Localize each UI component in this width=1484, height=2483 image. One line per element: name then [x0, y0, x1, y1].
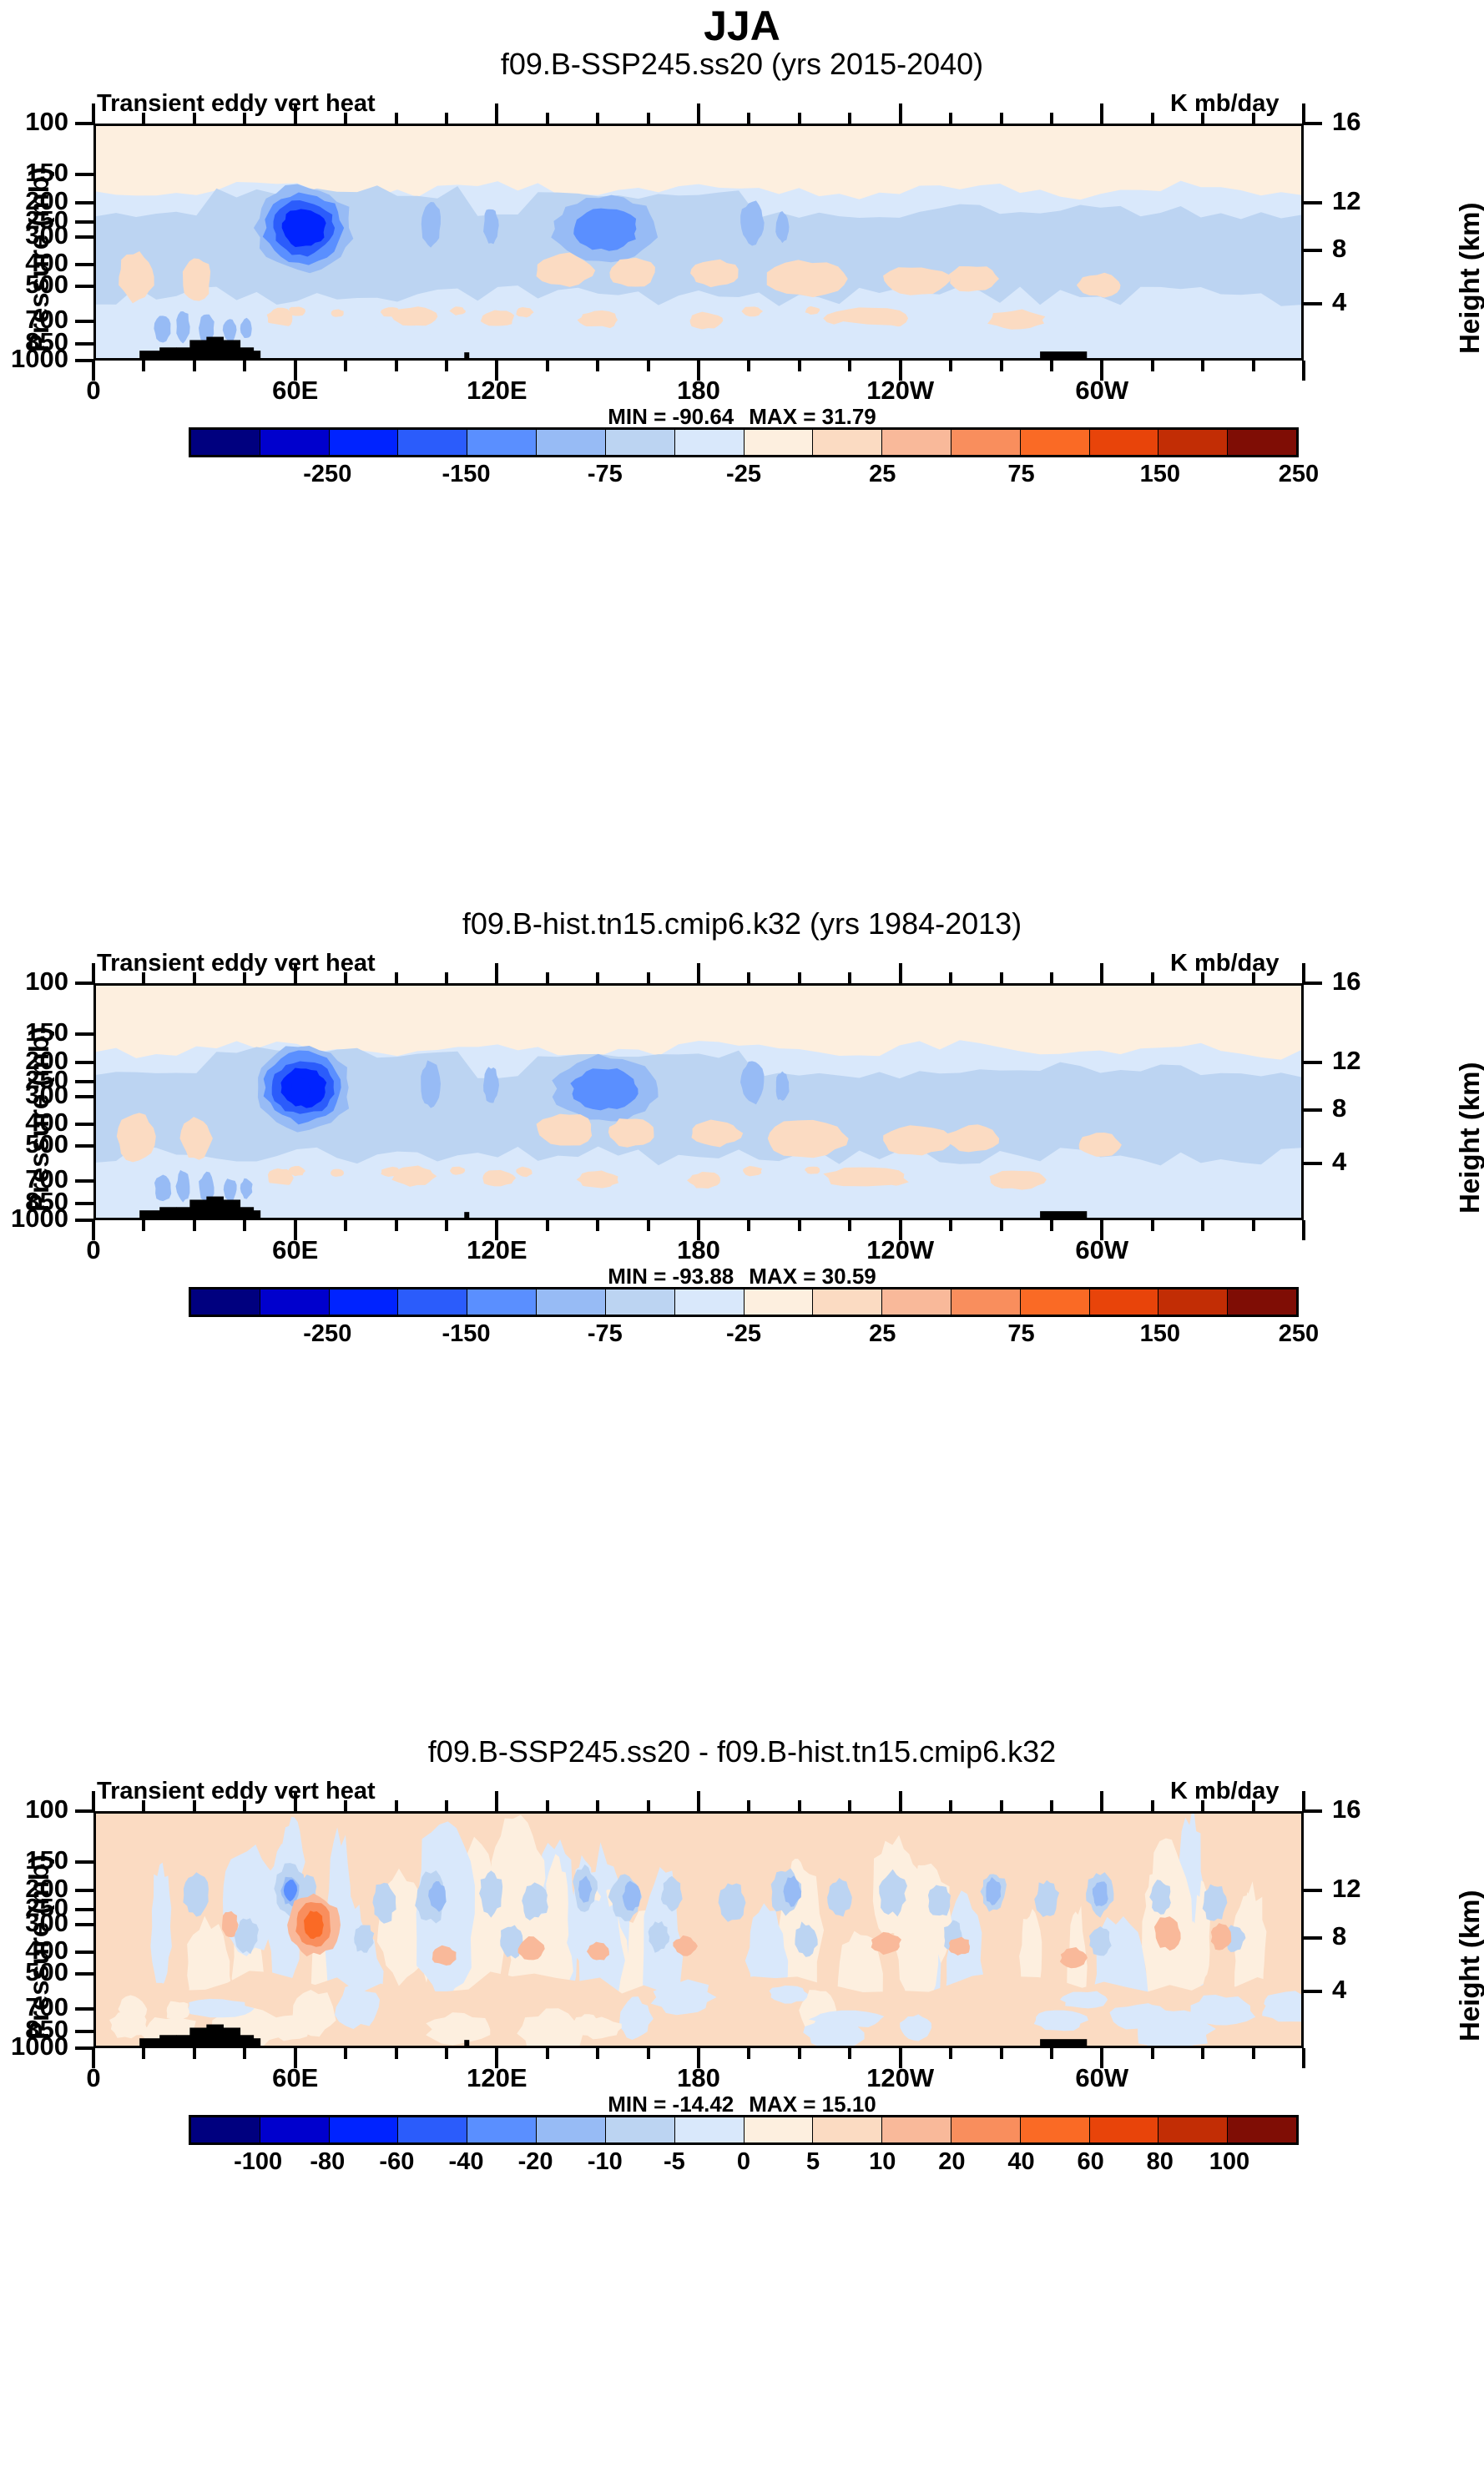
panel-ssp245-ytick-right-12	[1304, 201, 1322, 204]
panel-ssp245-xtick-bottom	[1000, 361, 1003, 371]
panel-ssp245-xtick-top	[747, 113, 750, 124]
panel-diff-xtick-bottom	[243, 2048, 246, 2059]
panel-diff-colorbar-cell-9	[813, 2117, 882, 2142]
panel-ssp245-max: MAX = 31.79	[749, 404, 876, 429]
panel-diff-xtick-bottom	[747, 2048, 750, 2059]
panel-ssp245-ytick-100	[75, 122, 93, 125]
panel-ssp245-xtick-label-0: 0	[35, 376, 152, 406]
panel-hist-min: MIN = -93.88	[608, 1264, 734, 1289]
panel-hist-colorbar-cell-6	[606, 1289, 675, 1315]
panel-ssp245-ylabel-right: Height (km)	[1454, 203, 1484, 355]
panel-hist-colorbar-label-0: -250	[303, 1320, 351, 1348]
panel-diff-xtick-bottom	[395, 2048, 398, 2059]
panel-hist-ytick-label-150: 150	[0, 1017, 68, 1047]
panel-ssp245-ytick-right-8	[1304, 249, 1322, 252]
panel-diff-colorbar-label-9: 10	[869, 2148, 896, 2176]
panel-ssp245-ytick-1000	[75, 359, 93, 362]
panel-diff-ytick-right-12	[1304, 1889, 1322, 1892]
panel-ssp245-xtick-top	[445, 113, 448, 124]
panel-hist-colorbar-cell-8	[745, 1289, 814, 1315]
panel-ssp245-colorbar-label-0: -250	[303, 461, 351, 488]
panel-diff-ytick-400	[75, 1951, 93, 1954]
panel-ssp245-xtick-bottom	[798, 361, 801, 371]
panel-ssp245-xtick-top	[697, 103, 700, 124]
panel-hist-ytick-150	[75, 1032, 93, 1036]
panel-ssp245-contour-field	[96, 126, 1301, 358]
panel-hist-xtick-bottom	[949, 1220, 952, 1231]
panel-diff-minmax: MIN = -14.42MAX = 15.10	[0, 2092, 1484, 2117]
panel-ssp245-ytick-right-16	[1304, 122, 1322, 125]
panel-diff-colorbar-cell-0	[191, 2117, 260, 2142]
panel-diff-xtick-bottom	[1302, 2048, 1305, 2068]
panel-hist-ytick-1000	[75, 1219, 93, 1222]
panel-hist-title: f09.B-hist.tn15.cmip6.k32 (yrs 1984-2013…	[0, 906, 1484, 941]
panel-ssp245-xtick-bottom	[1151, 361, 1154, 371]
panel-diff-ytick-right-8	[1304, 1936, 1322, 1940]
panel-ssp245-xtick-top	[92, 103, 95, 124]
panel-hist-ytick-label-300: 300	[0, 1080, 68, 1110]
panel-ssp245-colorbar-cell-15	[1228, 430, 1296, 455]
panel-ssp245-xtick-top	[1050, 113, 1053, 124]
panel-hist-ytick-right-8	[1304, 1108, 1322, 1112]
panel-ssp245-xtick-top	[899, 103, 902, 124]
panel-hist-xtick-top	[193, 972, 196, 983]
panel-hist-xtick-bottom	[596, 1220, 599, 1231]
panel-hist-ytick-850	[75, 1202, 93, 1205]
panel-ssp245-colorbar-cell-10	[882, 430, 951, 455]
panel-hist-xtick-top	[142, 972, 145, 983]
panel-hist-xtick-bottom	[1302, 1220, 1305, 1240]
panel-ssp245-ytick-right-label-12: 12	[1332, 186, 1391, 216]
panel-diff-xtick-top	[1252, 1800, 1255, 1811]
panel-ssp245-xtick-top	[1201, 113, 1204, 124]
panel-hist-colorbar-cell-13	[1090, 1289, 1159, 1315]
panel-diff-xtick-top	[1151, 1800, 1154, 1811]
panel-ssp245-ytick-150	[75, 173, 93, 176]
panel-diff-xtick-bottom	[647, 2048, 650, 2059]
panel-diff-colorbar-cell-8	[745, 2117, 814, 2142]
panel-diff-colorbar-cell-15	[1228, 2117, 1296, 2142]
panel-hist-xtick-label-120W: 120W	[842, 1235, 959, 1265]
panel-hist-xtick-bottom	[546, 1220, 549, 1231]
panel-diff-colorbar-label-5: -10	[588, 2148, 623, 2176]
panel-diff-xtick-top	[344, 1800, 347, 1811]
panel-diff-xtick-top	[1050, 1800, 1053, 1811]
panel-diff-colorbar-labels: -100-80-60-40-20-10-5051020406080100	[189, 2148, 1299, 2182]
panel-hist-colorbar-labels: -250-150-75-252575150250	[189, 1320, 1299, 1354]
panel-ssp245-ytick-label-150: 150	[0, 158, 68, 188]
panel-ssp245-xtick-top	[1252, 113, 1255, 124]
panel-ssp245-ytick-label-300: 300	[0, 220, 68, 250]
panel-diff-xtick-label-60E: 60E	[237, 2063, 354, 2093]
panel-hist-xtick-top	[647, 972, 650, 983]
panel-diff-xtick-top	[647, 1800, 650, 1811]
panel-ssp245-ytick-right-label-4: 4	[1332, 287, 1391, 317]
panel-diff-xtick-top	[92, 1791, 95, 1811]
panel-hist-ytick-400	[75, 1123, 93, 1126]
panel-ssp245-xtick-bottom	[1201, 361, 1204, 371]
panel-ssp245-ytick-250	[75, 220, 93, 224]
panel-diff-xtick-top	[142, 1800, 145, 1811]
panel-hist-colorbar-cell-0	[191, 1289, 260, 1315]
panel-ssp245-colorbar-label-3: -25	[726, 461, 761, 488]
panel-ssp245-colorbar-cell-14	[1158, 430, 1228, 455]
panel-hist-ytick-right-12	[1304, 1061, 1322, 1064]
panel-hist-max: MAX = 30.59	[749, 1264, 876, 1289]
panel-diff-colorbar-label-4: -20	[518, 2148, 553, 2176]
panel-diff-ytick-label-500: 500	[0, 1957, 68, 1987]
panel-ssp245-xtick-bottom	[647, 361, 650, 371]
panel-ssp245-colorbar-label-7: 250	[1279, 461, 1319, 488]
panel-ssp245-colorbar-label-4: 25	[869, 461, 896, 488]
panel-ssp245-xtick-label-180: 180	[640, 376, 757, 406]
panel-ssp245-colorbar-cell-5	[537, 430, 606, 455]
panel-ssp245-xtick-bottom	[193, 361, 196, 371]
panel-hist-xtick-top	[1252, 972, 1255, 983]
panel-hist-xtick-top	[1151, 972, 1154, 983]
panel-hist-xtick-top	[798, 972, 801, 983]
panel-diff-ytick-right-label-16: 16	[1332, 1794, 1391, 1824]
panel-hist-xtick-top	[1000, 972, 1003, 983]
panel-diff-xtick-bottom	[1201, 2048, 1204, 2059]
panel-hist-header-left: Transient eddy vert heat	[97, 950, 376, 977]
panel-ssp245-colorbar-label-5: 75	[1007, 461, 1034, 488]
panel-diff-colorbar-label-3: -40	[449, 2148, 484, 2176]
panel-diff-xtick-top	[899, 1791, 902, 1811]
panel-diff-ytick-label-100: 100	[0, 1794, 68, 1824]
panel-hist-xtick-top	[1302, 963, 1305, 983]
panel-diff-xtick-top	[1100, 1791, 1103, 1811]
panel-hist-colorbar-label-4: 25	[869, 1320, 896, 1348]
panel-ssp245-colorbar-cell-2	[330, 430, 399, 455]
panel-diff-ylabel-right: Height (km)	[1454, 1890, 1484, 2042]
panel-diff-colorbar-label-7: 0	[737, 2148, 750, 2176]
panel-hist-colorbar-cell-1	[260, 1289, 330, 1315]
panel-diff-colorbar-label-11: 40	[1007, 2148, 1034, 2176]
panel-hist-colorbar-cell-5	[537, 1289, 606, 1315]
panel-ssp245-xtick-bottom	[344, 361, 347, 371]
panel-diff-xtick-bottom	[949, 2048, 952, 2059]
panel-ssp245-colorbar	[189, 427, 1299, 457]
panel-hist-xtick-top	[1050, 972, 1053, 983]
panel-hist-ytick-right-label-4: 4	[1332, 1147, 1391, 1177]
panel-hist-ytick-right-16	[1304, 982, 1322, 985]
panel-diff-xtick-top	[445, 1800, 448, 1811]
panel-hist-ytick-250	[75, 1080, 93, 1083]
panel-diff-ytick-250	[75, 1908, 93, 1911]
panel-hist-xtick-top	[243, 972, 246, 983]
panel-hist-ytick-right-label-12: 12	[1332, 1046, 1391, 1076]
panel-ssp245-xtick-top	[243, 113, 246, 124]
panel-ssp245-ytick-label-500: 500	[0, 270, 68, 300]
panel-hist-xtick-top	[596, 972, 599, 983]
panel-diff-contour-field	[96, 1814, 1301, 2046]
panel-ssp245-ytick-right-label-16: 16	[1332, 107, 1391, 137]
panel-diff-colorbar-cell-7	[675, 2117, 745, 2142]
panel-diff-colorbar-label-0: -100	[234, 2148, 282, 2176]
panel-diff-xtick-label-120E: 120E	[438, 2063, 555, 2093]
panel-ssp245-xtick-bottom	[1252, 361, 1255, 371]
panel-hist-ytick-200	[75, 1061, 93, 1064]
panel-ssp245-xtick-bottom	[445, 361, 448, 371]
panel-hist-colorbar-label-7: 250	[1279, 1320, 1319, 1348]
panel-ssp245-xtick-bottom	[142, 361, 145, 371]
panel-diff-xtick-top	[294, 1791, 297, 1811]
panel-ssp245-xtick-label-60W: 60W	[1043, 376, 1160, 406]
panel-ssp245-colorbar-cell-3	[398, 430, 467, 455]
panel-hist-xtick-bottom	[1151, 1220, 1154, 1231]
panel-ssp245-xtick-top	[1302, 103, 1305, 124]
panel-diff-xtick-bottom	[848, 2048, 851, 2059]
panel-diff-plot-area	[93, 1811, 1304, 2048]
panel-ssp245-xtick-top	[395, 113, 398, 124]
panel-ssp245-xtick-bottom	[949, 361, 952, 371]
panel-diff-ytick-850	[75, 2030, 93, 2033]
panel-hist-ytick-label-1000: 1000	[0, 1204, 68, 1234]
panel-diff-colorbar-label-10: 20	[938, 2148, 965, 2176]
panel-diff-xtick-bottom	[344, 2048, 347, 2059]
panel-diff-xtick-top	[1000, 1800, 1003, 1811]
panel-diff-header-right: K mb/day	[1170, 1778, 1280, 1805]
panel-hist-colorbar-cell-10	[882, 1289, 951, 1315]
panel-hist-xtick-bottom	[243, 1220, 246, 1231]
panel-ssp245-colorbar-label-6: 150	[1140, 461, 1180, 488]
panel-hist-colorbar-cell-4	[467, 1289, 537, 1315]
panel-diff-xtick-top	[798, 1800, 801, 1811]
panel-ssp245-colorbar-cell-1	[260, 430, 330, 455]
panel-ssp245-colorbar-label-2: -75	[588, 461, 623, 488]
panel-hist-colorbar-cell-2	[330, 1289, 399, 1315]
panel-ssp245-xtick-top	[142, 113, 145, 124]
panel-ssp245-colorbar-cell-6	[606, 430, 675, 455]
panel-hist-xtick-label-60E: 60E	[237, 1235, 354, 1265]
panel-diff-ytick-500	[75, 1972, 93, 1976]
panel-hist-xtick-top	[546, 972, 549, 983]
panel-hist-xtick-top	[344, 972, 347, 983]
panel-diff-ytick-right-label-12: 12	[1332, 1874, 1391, 1904]
panel-ssp245-xtick-bottom	[747, 361, 750, 371]
panel-hist-xtick-label-180: 180	[640, 1235, 757, 1265]
panel-hist-xtick-top	[949, 972, 952, 983]
panel-ssp245-xtick-top	[1100, 103, 1103, 124]
panel-ssp245-xtick-label-120E: 120E	[438, 376, 555, 406]
panel-diff-xtick-top	[697, 1791, 700, 1811]
panel-ssp245-xtick-top	[495, 103, 498, 124]
panel-diff-xtick-label-60W: 60W	[1043, 2063, 1160, 2093]
panel-ssp245-ytick-label-100: 100	[0, 107, 68, 137]
panel-hist-colorbar-label-2: -75	[588, 1320, 623, 1348]
panel-diff-xtick-bottom	[1252, 2048, 1255, 2059]
panel-diff-xtick-bottom	[798, 2048, 801, 2059]
panel-diff-xtick-top	[848, 1800, 851, 1811]
panel-diff-ytick-label-1000: 1000	[0, 2031, 68, 2062]
panel-diff-colorbar-label-6: -5	[664, 2148, 685, 2176]
panel-hist-colorbar-label-6: 150	[1140, 1320, 1180, 1348]
panel-diff-xtick-top	[495, 1791, 498, 1811]
panel-diff-ytick-700	[75, 2007, 93, 2011]
panel-ssp245-minmax: MIN = -90.64MAX = 31.79	[0, 404, 1484, 430]
panel-hist-ytick-right-label-8: 8	[1332, 1093, 1391, 1123]
panel-diff-colorbar-cell-2	[330, 2117, 399, 2142]
panel-diff-xtick-top	[596, 1800, 599, 1811]
panel-ssp245-colorbar-cell-0	[191, 430, 260, 455]
panel-diff-colorbar-label-1: -80	[310, 2148, 345, 2176]
panel-diff-colorbar-label-2: -60	[379, 2148, 414, 2176]
panel-hist-xtick-bottom	[193, 1220, 196, 1231]
panel-diff-colorbar-cell-12	[1021, 2117, 1090, 2142]
panel-hist-ytick-100	[75, 982, 93, 985]
panel-ssp245-xtick-label-120W: 120W	[842, 376, 959, 406]
panel-diff-ytick-right-4	[1304, 1990, 1322, 1993]
panel-hist-xtick-top	[495, 963, 498, 983]
panel-ssp245-ytick-500	[75, 285, 93, 288]
panel-hist-colorbar-cell-14	[1158, 1289, 1228, 1315]
panel-diff-xtick-label-120W: 120W	[842, 2063, 959, 2093]
panel-hist-xtick-bottom	[798, 1220, 801, 1231]
panel-ssp245-ytick-300	[75, 235, 93, 239]
panel-diff-ytick-200	[75, 1889, 93, 1892]
panel-hist-xtick-top	[294, 963, 297, 983]
panel-diff-xtick-bottom	[1000, 2048, 1003, 2059]
panel-diff-xtick-top	[949, 1800, 952, 1811]
panel-hist-xtick-bottom	[1252, 1220, 1255, 1231]
panel-ssp245-ytick-400	[75, 263, 93, 266]
panel-ssp245-xtick-bottom	[848, 361, 851, 371]
panel-ssp245-xtick-bottom	[1050, 361, 1053, 371]
panel-ssp245-ytick-right-label-8: 8	[1332, 234, 1391, 264]
panel-hist-colorbar-label-5: 75	[1007, 1320, 1034, 1348]
panel-hist-xtick-top	[848, 972, 851, 983]
panel-diff-colorbar-cell-4	[467, 2117, 537, 2142]
panel-hist-ytick-500	[75, 1144, 93, 1148]
main-title: JJA	[0, 2, 1484, 50]
panel-hist-xtick-bottom	[445, 1220, 448, 1231]
panel-ssp245-xtick-bottom	[395, 361, 398, 371]
panel-diff-xtick-bottom	[1151, 2048, 1154, 2059]
panel-ssp245-xtick-label-60E: 60E	[237, 376, 354, 406]
panel-hist-xtick-bottom	[142, 1220, 145, 1231]
panel-ssp245-colorbar-cell-9	[813, 430, 882, 455]
panel-diff-colorbar-cell-11	[951, 2117, 1021, 2142]
panel-diff-header-left: Transient eddy vert heat	[97, 1778, 376, 1805]
panel-ssp245-xtick-top	[596, 113, 599, 124]
panel-hist-ytick-right-label-16: 16	[1332, 966, 1391, 997]
panel-ssp245-ytick-label-1000: 1000	[0, 344, 68, 374]
panel-hist-xtick-top	[395, 972, 398, 983]
panel-hist-colorbar	[189, 1287, 1299, 1317]
panel-hist-xtick-bottom	[848, 1220, 851, 1231]
panel-hist-colorbar-label-3: -25	[726, 1320, 761, 1348]
panel-diff-ytick-label-150: 150	[0, 1845, 68, 1875]
panel-hist-xtick-bottom	[344, 1220, 347, 1231]
panel-hist-ytick-700	[75, 1179, 93, 1183]
panel-diff-colorbar-label-8: 5	[806, 2148, 820, 2176]
panel-ssp245-xtick-bottom	[1302, 361, 1305, 381]
panel-diff-xtick-label-0: 0	[35, 2063, 152, 2093]
panel-hist-colorbar-cell-9	[813, 1289, 882, 1315]
panel-hist-xtick-top	[899, 963, 902, 983]
panel-hist-ytick-label-100: 100	[0, 966, 68, 997]
panel-diff-min: MIN = -14.42	[608, 2092, 734, 2117]
panel-hist-colorbar-cell-3	[398, 1289, 467, 1315]
panel-diff-ytick-1000	[75, 2046, 93, 2050]
panel-ssp245-title: f09.B-SSP245.ss20 (yrs 2015-2040)	[0, 47, 1484, 82]
panel-diff-colorbar-label-13: 80	[1147, 2148, 1174, 2176]
panel-ssp245-xtick-top	[1000, 113, 1003, 124]
panel-ssp245-ytick-200	[75, 201, 93, 204]
panel-hist-xtick-top	[697, 963, 700, 983]
panel-hist-plot-area	[93, 983, 1304, 1220]
panel-diff-ytick-100	[75, 1809, 93, 1813]
panel-ssp245-header-left: Transient eddy vert heat	[97, 90, 376, 118]
panel-ssp245-xtick-top	[798, 113, 801, 124]
panel-diff-xtick-top	[395, 1800, 398, 1811]
panel-diff-ytick-label-300: 300	[0, 1908, 68, 1938]
panel-hist-xtick-label-120E: 120E	[438, 1235, 555, 1265]
panel-diff-colorbar-cell-10	[882, 2117, 951, 2142]
panel-hist-ytick-300	[75, 1095, 93, 1098]
panel-ssp245-xtick-bottom	[596, 361, 599, 371]
panel-diff-xtick-top	[243, 1800, 246, 1811]
panel-hist-xtick-top	[445, 972, 448, 983]
panel-diff-xtick-bottom	[596, 2048, 599, 2059]
panel-ssp245-xtick-bottom	[243, 361, 246, 371]
panel-diff-xtick-top	[546, 1800, 549, 1811]
panel-diff-ytick-right-label-8: 8	[1332, 1921, 1391, 1951]
panel-diff-xtick-label-180: 180	[640, 2063, 757, 2093]
panel-hist-xtick-bottom	[1050, 1220, 1053, 1231]
panel-ssp245-xtick-top	[1151, 113, 1154, 124]
panel-ssp245-min: MIN = -90.64	[608, 404, 734, 429]
panel-hist-xtick-top	[1201, 972, 1204, 983]
panel-diff-xtick-bottom	[1050, 2048, 1053, 2059]
panel-ssp245-colorbar-cell-4	[467, 430, 537, 455]
panel-hist-xtick-label-0: 0	[35, 1235, 152, 1265]
panel-ssp245-xtick-top	[193, 113, 196, 124]
panel-diff-ytick-right-16	[1304, 1809, 1322, 1813]
panel-diff-max: MAX = 15.10	[749, 2092, 876, 2117]
panel-hist-xtick-bottom	[1201, 1220, 1204, 1231]
panel-ssp245-colorbar-cell-13	[1090, 430, 1159, 455]
panel-diff-colorbar-cell-3	[398, 2117, 467, 2142]
panel-ssp245-colorbar-label-1: -150	[442, 461, 490, 488]
panel-hist-colorbar-cell-7	[675, 1289, 745, 1315]
panel-hist-colorbar-label-1: -150	[442, 1320, 490, 1348]
panel-diff-xtick-bottom	[546, 2048, 549, 2059]
panel-diff-xtick-bottom	[142, 2048, 145, 2059]
panel-ssp245-colorbar-labels: -250-150-75-252575150250	[189, 461, 1299, 494]
panel-diff-colorbar-cell-13	[1090, 2117, 1159, 2142]
panel-diff-xtick-top	[1302, 1791, 1305, 1811]
panel-ssp245-xtick-top	[294, 103, 297, 124]
panel-diff-colorbar-label-12: 60	[1077, 2148, 1103, 2176]
panel-hist-xtick-top	[1100, 963, 1103, 983]
figure-page: JJA f09.B-SSP245.ss20 (yrs 2015-2040)Tra…	[0, 0, 1484, 2483]
panel-diff-colorbar-cell-6	[606, 2117, 675, 2142]
panel-ssp245-ytick-right-4	[1304, 302, 1322, 305]
panel-diff-xtick-bottom	[193, 2048, 196, 2059]
panel-ssp245-colorbar-cell-12	[1021, 430, 1090, 455]
panel-ssp245-plot-area	[93, 124, 1304, 361]
panel-diff-ytick-300	[75, 1923, 93, 1926]
panel-diff-xtick-bottom	[445, 2048, 448, 2059]
panel-hist-header-right: K mb/day	[1170, 950, 1280, 977]
panel-diff-colorbar-cell-5	[537, 2117, 606, 2142]
panel-hist-minmax: MIN = -93.88MAX = 30.59	[0, 1264, 1484, 1289]
panel-hist-xtick-label-60W: 60W	[1043, 1235, 1160, 1265]
panel-ssp245-xtick-top	[344, 113, 347, 124]
panel-diff-colorbar-cell-1	[260, 2117, 330, 2142]
